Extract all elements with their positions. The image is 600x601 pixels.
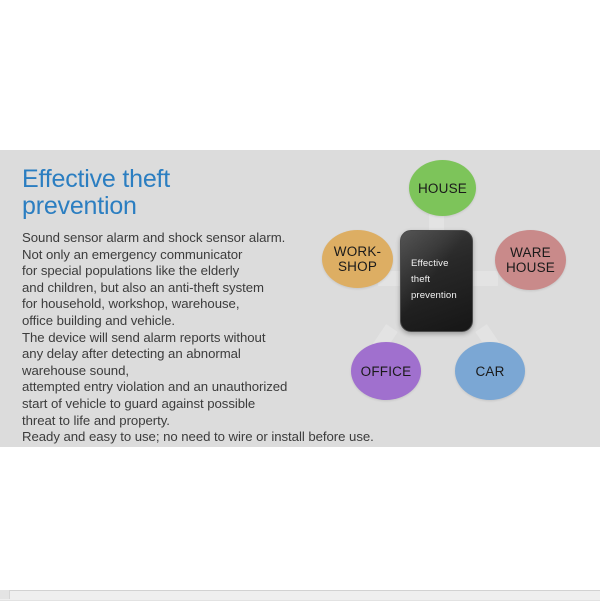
device-hub[interactable]: Effective theft prevention xyxy=(400,230,473,332)
panel-footer-notch xyxy=(0,590,10,599)
device-hub-label: Effective theft prevention xyxy=(411,256,466,304)
node-office-label: OFFICE xyxy=(361,364,412,379)
node-house-label: HOUSE xyxy=(418,181,467,196)
node-workshop-label: WORK- SHOP xyxy=(334,244,382,274)
node-car[interactable]: CAR xyxy=(455,342,525,400)
theft-prevention-diagram: HOUSE WARE HOUSE WORK- SHOP OFFICE CAR E… xyxy=(310,150,595,447)
node-house[interactable]: HOUSE xyxy=(409,160,476,216)
node-office[interactable]: OFFICE xyxy=(351,342,421,400)
content-panel: Effective theft prevention Sound sensor … xyxy=(0,150,600,447)
node-workshop[interactable]: WORK- SHOP xyxy=(322,230,393,288)
panel-footer-strip xyxy=(0,590,600,601)
node-car-label: CAR xyxy=(475,364,504,379)
node-warehouse[interactable]: WARE HOUSE xyxy=(495,230,566,290)
node-warehouse-label: WARE HOUSE xyxy=(506,245,555,275)
